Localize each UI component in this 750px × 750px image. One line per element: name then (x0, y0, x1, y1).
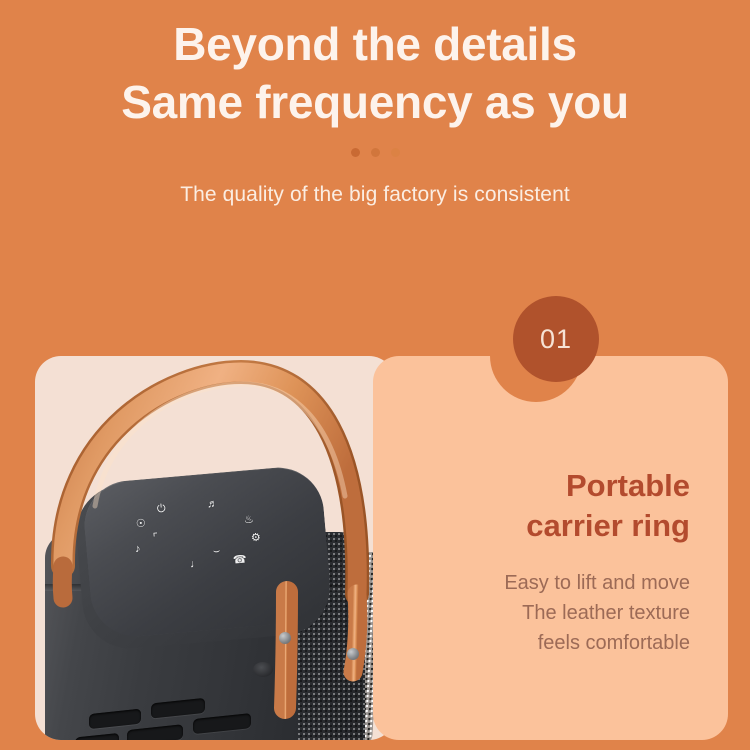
feature-title-line2: carrier ring (410, 506, 690, 546)
vent-slot (193, 713, 251, 734)
pagination-dot-2 (371, 148, 380, 157)
vent-slot (75, 733, 119, 740)
hero-header: Beyond the details Same frequency as you… (0, 0, 750, 207)
feature-title-line1: Portable (410, 466, 690, 506)
vent-slot (151, 698, 205, 719)
product-feature-banner: Beyond the details Same frequency as you… (0, 0, 750, 750)
pagination-dot-3 (391, 148, 400, 157)
bluetooth-icon[interactable]: ☉ (136, 519, 147, 531)
light-icon[interactable]: ♨ (244, 515, 255, 527)
hero-title-line1: Beyond the details (0, 16, 750, 72)
mode-icon[interactable]: ⌜ (153, 533, 159, 544)
touch-control-panel[interactable] (81, 464, 334, 640)
step-number: 01 (540, 324, 572, 355)
play-pause-icon[interactable]: ⌣ (213, 546, 221, 558)
product-image-panel: ⏻ ☉ ⌜ ♪ ♬ ♨ ⚙ ⌣ ☎ ♩ (35, 356, 395, 740)
bass-icon[interactable]: ♩ (190, 559, 202, 571)
feature-description: Easy to lift and move The leather textur… (410, 568, 690, 658)
power-icon[interactable]: ⏻ (157, 504, 167, 516)
vent-slot (127, 724, 183, 740)
speaker-illustration: ⏻ ☉ ⌜ ♪ ♬ ♨ ⚙ ⌣ ☎ ♩ (35, 356, 395, 740)
pagination-dot-1 (351, 148, 360, 157)
hero-subtitle: The quality of the big factory is consis… (0, 183, 750, 207)
feature-title: Portable carrier ring (410, 466, 690, 546)
volume-down-icon[interactable]: ♪ (135, 544, 141, 555)
vent-slot (89, 709, 141, 729)
pagination-dots (0, 148, 750, 157)
feature-body-line1: Easy to lift and move (410, 568, 690, 598)
feature-text-panel: Portable carrier ring Easy to lift and m… (373, 356, 728, 740)
equalizer-icon[interactable]: ⚙ (251, 533, 262, 545)
step-number-badge: 01 (513, 296, 599, 382)
feature-copy: Portable carrier ring Easy to lift and m… (410, 466, 690, 658)
microphone-icon[interactable]: ♬ (207, 499, 219, 511)
phone-icon[interactable]: ☎ (233, 554, 248, 566)
feature-body-line2: The leather texture (410, 598, 690, 628)
hero-title-line2: Same frequency as you (0, 74, 750, 130)
speaker-port-hole (253, 662, 273, 677)
feature-body-line3: feels comfortable (410, 628, 690, 658)
